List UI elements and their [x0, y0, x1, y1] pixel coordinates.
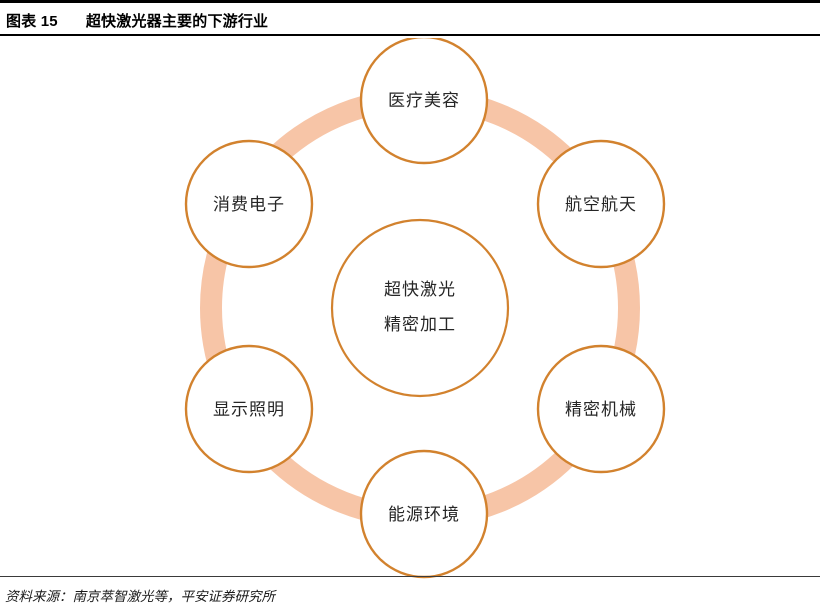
page-title: 超快激光器主要的下游行业 [86, 10, 268, 31]
figure-source-bar: 资料来源：南京萃智激光等，平安证券研究所 [0, 576, 820, 613]
center-node[interactable]: 超快激光 精密加工 [332, 220, 508, 396]
node-bottom-right-label: 精密机械 [565, 400, 637, 419]
figure-index-label: 图表 15 [6, 10, 58, 31]
node-bottom-left-label: 显示照明 [213, 400, 285, 419]
node-top-left-label: 消费电子 [213, 195, 285, 214]
node-top-right-label: 航空航天 [565, 195, 637, 214]
node-bottom-left[interactable]: 显示照明 [186, 346, 312, 472]
node-top-left[interactable]: 消费电子 [186, 141, 312, 267]
node-top-right[interactable]: 航空航天 [538, 141, 664, 267]
node-bottom-label: 能源环境 [388, 505, 460, 524]
node-bottom[interactable]: 能源环境 [361, 451, 487, 577]
node-bottom-right[interactable]: 精密机械 [538, 346, 664, 472]
center-node-label-line2: 精密加工 [384, 315, 456, 334]
figure-title-bar: 图表 15 超快激光器主要的下游行业 [0, 6, 820, 36]
node-top-label: 医疗美容 [388, 91, 460, 110]
center-node-circle [332, 220, 508, 396]
node-top[interactable]: 医疗美容 [361, 38, 487, 163]
figure-container: 图表 15 超快激光器主要的下游行业 超快激光 精密加工 医疗美容 航空航天 [0, 0, 820, 613]
center-node-label-line1: 超快激光 [384, 280, 456, 299]
source-text: 资料来源：南京萃智激光等，平安证券研究所 [5, 585, 275, 605]
diagram-canvas: 超快激光 精密加工 医疗美容 航空航天 精密机械 能源环境 [0, 38, 820, 579]
